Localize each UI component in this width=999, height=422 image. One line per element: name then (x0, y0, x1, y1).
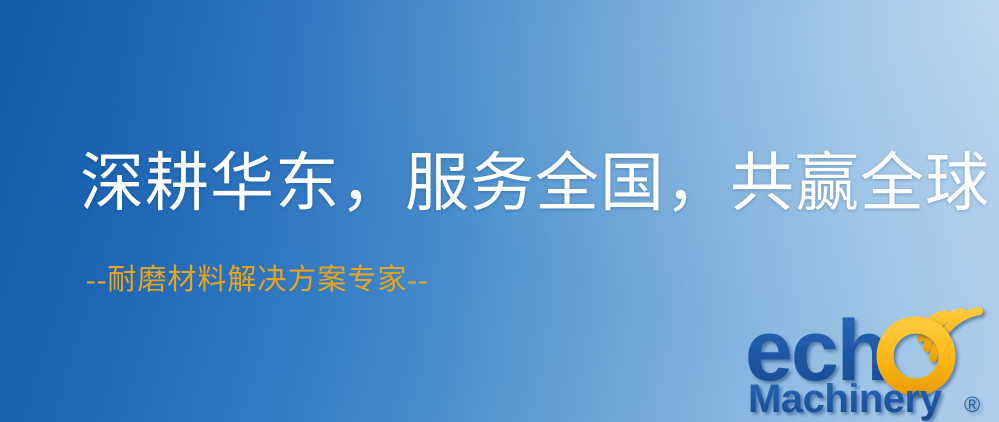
promo-banner: 深耕华东，服务全国，共赢全球 --耐磨材料解决方案专家-- (0, 0, 999, 422)
logo-tagline: Machinery (748, 377, 943, 421)
logo-registered-mark: ® (964, 392, 980, 417)
echo-machinery-logo: ech Machinery ® (745, 296, 997, 422)
banner-subtitle: --耐磨材料解决方案专家-- (86, 266, 429, 295)
banner-headline: 深耕华东，服务全国，共赢全球 (80, 152, 990, 216)
